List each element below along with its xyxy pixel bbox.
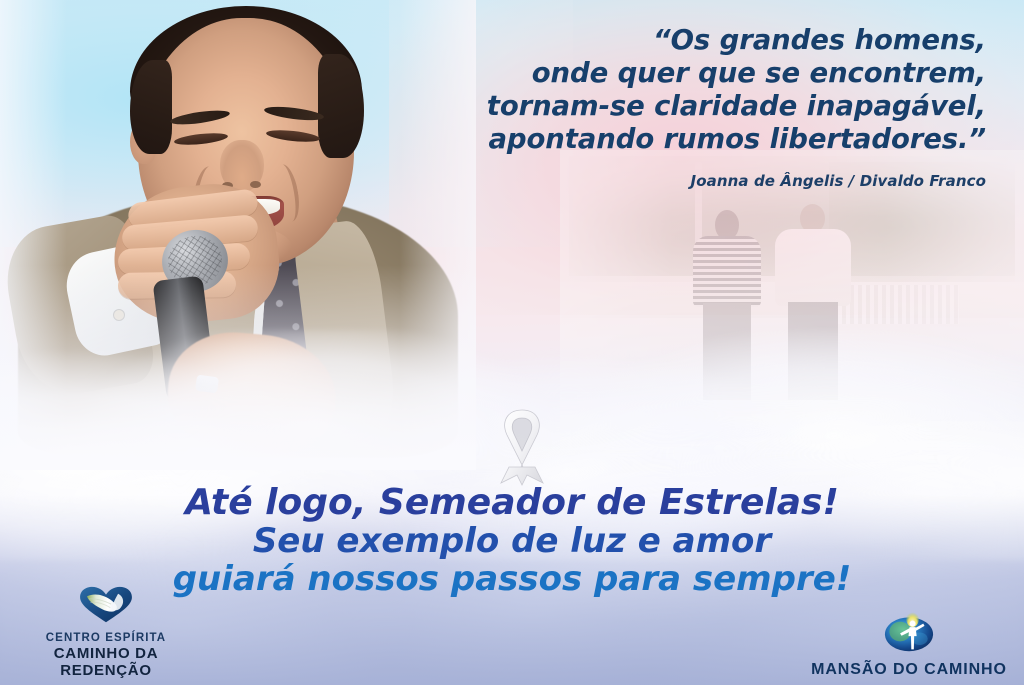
quote-line-3: tornam-se claridade inapagável,: [426, 90, 986, 123]
heart-hands-icon: [8, 586, 204, 629]
logo-right-line-1: MANSÃO DO CAMINHO: [804, 661, 1014, 679]
tribute-message: Até logo, Semeador de Estrelas! Seu exem…: [0, 484, 1024, 598]
logo-left-line-1: CENTRO ESPÍRITA: [8, 632, 204, 645]
quote-line-4: apontando rumos libertadores.”: [426, 123, 986, 156]
logo-mansao-do-caminho[interactable]: MANSÃO DO CAMINHO: [804, 612, 1014, 679]
quote-block: “Os grandes homens, onde quer que se enc…: [426, 24, 986, 190]
logo-centro-espirita[interactable]: CENTRO ESPÍRITA CAMINHO DA REDENÇÃO: [8, 586, 204, 679]
quote-line-1: “Os grandes homens,: [426, 24, 986, 57]
logo-left-line-2: CAMINHO DA REDENÇÃO: [8, 645, 204, 679]
nostril-right: [250, 181, 261, 188]
hair-side-left: [130, 60, 172, 154]
tribute-poster: “Os grandes homens, onde quer que se enc…: [0, 0, 1024, 685]
quote-attribution: Joanna de Ângelis / Divaldo Franco: [426, 172, 986, 190]
message-line-2: Seu exemplo de luz e amor: [0, 522, 1024, 560]
cuff-button: [114, 310, 124, 320]
message-line-1: Até logo, Semeador de Estrelas!: [0, 484, 1024, 522]
mourning-ribbon-icon: [481, 405, 563, 489]
quote-line-2: onde quer que se encontrem,: [426, 57, 986, 90]
globe-figure-icon: [804, 612, 1014, 658]
